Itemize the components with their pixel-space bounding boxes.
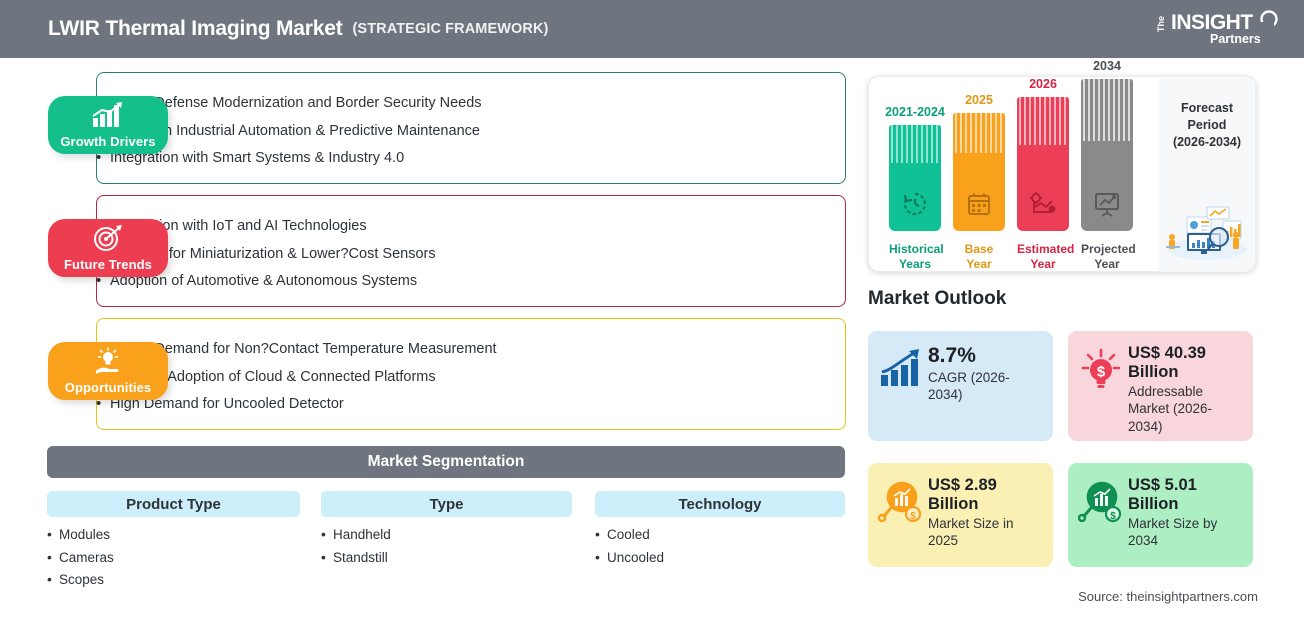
insight-partners-logo: The INSIGHT Partners: [1152, 8, 1282, 50]
magnifier-chart-dollar-icon: $: [876, 476, 926, 524]
forecast-caption-historical: Historical Years: [889, 242, 941, 271]
card-subtitle: Market Size by 2034: [1128, 515, 1243, 550]
bar-chart-growth-icon: [88, 101, 128, 134]
segmentation-items: Modules Cameras Scopes: [47, 528, 300, 587]
card-value: US$ 40.39 Billion: [1128, 344, 1206, 381]
bar-year-label: 2025: [953, 93, 1005, 107]
badge-opportunities[interactable]: Opportunities: [48, 342, 168, 400]
forecast-bar-projected: 2034: [1081, 79, 1133, 231]
bar-stripes: [889, 125, 941, 163]
badge-future-trends[interactable]: Future Trends: [48, 219, 168, 277]
market-outlook-title: Market Outlook: [868, 288, 1006, 310]
badge-label: Future Trends: [64, 257, 152, 272]
market-segmentation-title: Market Segmentation: [47, 446, 845, 478]
page-header: LWIR Thermal Imaging Market (STRATEGIC F…: [0, 0, 1304, 58]
bar-stripes: [1081, 79, 1133, 141]
forecast-bar-base: 2025: [953, 113, 1005, 231]
card-subtitle: Addressable Market (2026-2034): [1128, 383, 1243, 435]
badge-label: Opportunities: [65, 380, 152, 395]
hand-lightbulb-icon: [87, 347, 129, 382]
bar-year-label: 2026: [1017, 77, 1069, 91]
forecast-bar-estimated: 2026: [1017, 97, 1069, 231]
list-item: Uncooled: [595, 551, 845, 565]
page-title: LWIR Thermal Imaging Market: [48, 17, 343, 41]
forecast-caption-base: Base Year: [953, 242, 1005, 271]
segmentation-items: Cooled Uncooled: [595, 528, 845, 564]
lightbulb-dollar-icon: $: [1076, 344, 1126, 392]
svg-text:The: The: [1156, 16, 1166, 32]
magnifier-chart-dollar-icon: $: [1076, 476, 1126, 524]
card-value: US$ 2.89 Billion: [928, 476, 997, 513]
forecast-period-panel: 2021-2024: [868, 76, 1256, 272]
badge-growth-drivers[interactable]: Growth Drivers: [48, 96, 168, 154]
list-item: Cooled: [595, 528, 845, 542]
card-value: US$ 5.01 Billion: [1128, 476, 1197, 513]
list-item: Scopes: [47, 573, 300, 587]
presentation-chart-icon: [1093, 191, 1121, 222]
svg-text:$: $: [1110, 511, 1116, 522]
calendar-icon: [966, 191, 992, 222]
source-attribution: Source: theinsightpartners.com: [1078, 589, 1258, 604]
svg-text:$: $: [910, 511, 916, 522]
forecast-period-text: Forecast Period (2026-2034): [1173, 100, 1241, 151]
list-item: Cameras: [47, 551, 300, 565]
card-value: 8.7%: [928, 344, 976, 367]
analytics-dashboard-illustration: [1163, 199, 1251, 266]
bar-body: [1017, 97, 1069, 231]
forecast-caption-projected: Projected Year: [1081, 242, 1133, 271]
segmentation-column-technology: Technology Cooled Uncooled: [595, 491, 845, 573]
segmentation-header: Type: [321, 491, 572, 517]
outlook-card-market-size-2034: $ US$ 5.01 Billion Market Size by 2034: [1068, 463, 1253, 567]
svg-text:INSIGHT: INSIGHT: [1171, 11, 1253, 34]
segmentation-header: Product Type: [47, 491, 300, 517]
infographic-root: LWIR Thermal Imaging Market (STRATEGIC F…: [0, 0, 1304, 626]
svg-text:$: $: [1097, 364, 1106, 381]
forecast-bar-historical: 2021-2024: [889, 125, 941, 231]
outlook-card-addressable-market: $ US$ 40.39 Billion Addressable Market (…: [1068, 331, 1253, 441]
bar-stripes: [953, 113, 1005, 153]
list-item: Handheld: [321, 528, 572, 542]
badge-label: Growth Drivers: [60, 134, 155, 149]
outlook-card-cagr: 8.7% CAGR (2026-2034): [868, 331, 1053, 441]
bar-year-label: 2034: [1081, 59, 1133, 73]
page-subtitle: (STRATEGIC FRAMEWORK): [353, 21, 549, 37]
right-column: 2021-2024: [866, 58, 1304, 626]
bar-chart-arrow-icon: [876, 344, 926, 388]
forecast-period-label-panel: Forecast Period (2026-2034): [1159, 78, 1255, 272]
list-item: Modules: [47, 528, 300, 542]
card-subtitle: Market Size in 2025: [928, 515, 1043, 550]
target-dart-icon: [88, 224, 128, 257]
segmentation-column-type: Type Handheld Standstill: [321, 491, 572, 573]
forecast-bar-chart: 2021-2024: [877, 77, 1149, 273]
segmentation-header: Technology: [595, 491, 845, 517]
outlook-card-market-size-2025: $ US$ 2.89 Billion Market Size in 2025: [868, 463, 1053, 567]
list-item: Standstill: [321, 551, 572, 565]
clock-history-icon: [902, 191, 928, 222]
bar-stripes: [1017, 97, 1069, 145]
bar-body: [889, 125, 941, 231]
segmentation-column-product-type: Product Type Modules Cameras Scopes: [47, 491, 300, 596]
bar-body: [953, 113, 1005, 231]
card-subtitle: CAGR (2026-2034): [928, 369, 1043, 404]
svg-text:Partners: Partners: [1210, 32, 1261, 46]
forecast-caption-estimated: Estimated Year: [1017, 242, 1069, 271]
bar-body: [1081, 79, 1133, 231]
bar-year-label: 2021-2024: [881, 105, 949, 119]
gear-estimate-icon: [1029, 191, 1057, 222]
segmentation-items: Handheld Standstill: [321, 528, 572, 564]
